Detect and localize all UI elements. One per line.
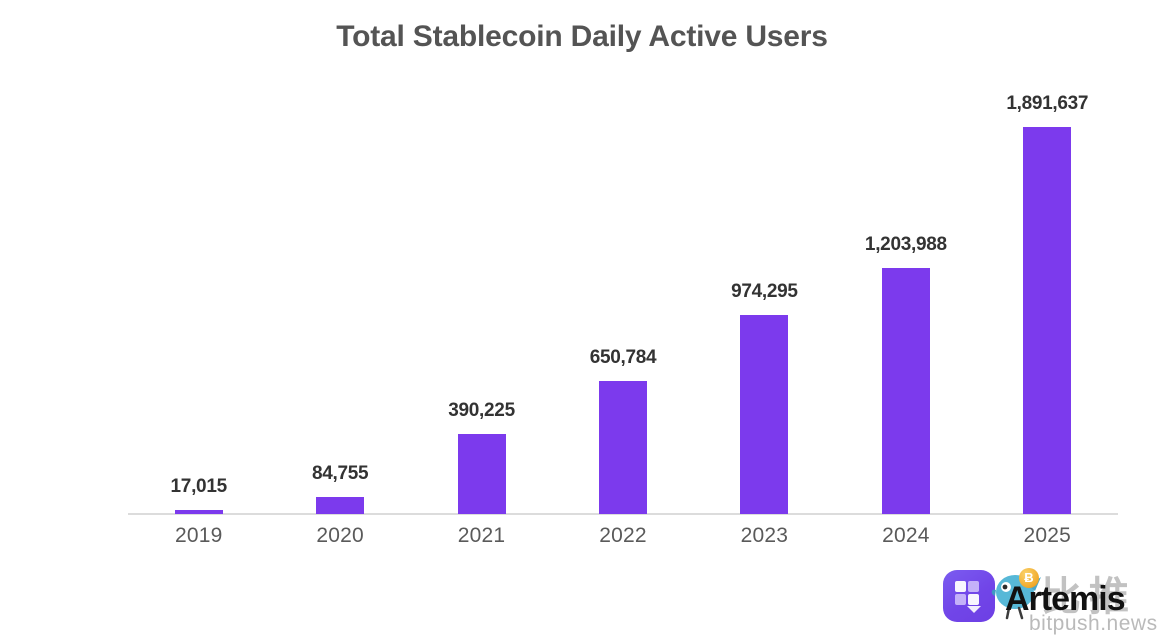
x-axis-tick-2022: 2022 [552, 524, 693, 548]
bar[interactable] [599, 381, 647, 514]
bar-value-label: 1,891,637 [1006, 93, 1088, 115]
bar-value-label: 84,755 [312, 463, 368, 485]
bar-group: 650,784 [552, 90, 693, 514]
chart-title: Total Stablecoin Daily Active Users [0, 20, 1164, 54]
bar-value-label: 1,203,988 [865, 234, 947, 256]
bar-value-label: 974,295 [731, 281, 798, 303]
x-axis-tick-2021: 2021 [411, 524, 552, 548]
bar[interactable] [740, 315, 788, 514]
x-axis-tick-labels: 2019202020212022202320242025 [128, 524, 1118, 560]
bar[interactable] [175, 510, 223, 514]
bar-group: 974,295 [694, 90, 835, 514]
bar-group: 390,225 [411, 90, 552, 514]
bar-group: 84,755 [269, 90, 410, 514]
bar-value-label: 650,784 [590, 347, 657, 369]
bar[interactable] [1023, 127, 1071, 514]
brand-footer: Ƀ 比推 Artemis bitpush.news [943, 568, 1153, 628]
x-axis-tick-2019: 2019 [128, 524, 269, 548]
bar-value-label: 17,015 [171, 476, 227, 498]
bar-value-label: 390,225 [448, 400, 515, 422]
x-axis-tick-2024: 2024 [835, 524, 976, 548]
bar-group: 1,203,988 [835, 90, 976, 514]
chart-container: Total Stablecoin Daily Active Users 17,0… [0, 0, 1164, 639]
bars-layer: 17,01584,755390,225650,784974,2951,203,9… [128, 90, 1118, 514]
bar[interactable] [316, 497, 364, 514]
artemis-logo-icon [943, 570, 995, 622]
bar[interactable] [458, 434, 506, 514]
watermark-url: bitpush.news [1029, 612, 1158, 636]
bar-group: 1,891,637 [977, 90, 1118, 514]
bar-group: 17,015 [128, 90, 269, 514]
x-axis-tick-2023: 2023 [694, 524, 835, 548]
bar[interactable] [882, 268, 930, 514]
x-axis-tick-2025: 2025 [977, 524, 1118, 548]
x-axis-tick-2020: 2020 [269, 524, 410, 548]
